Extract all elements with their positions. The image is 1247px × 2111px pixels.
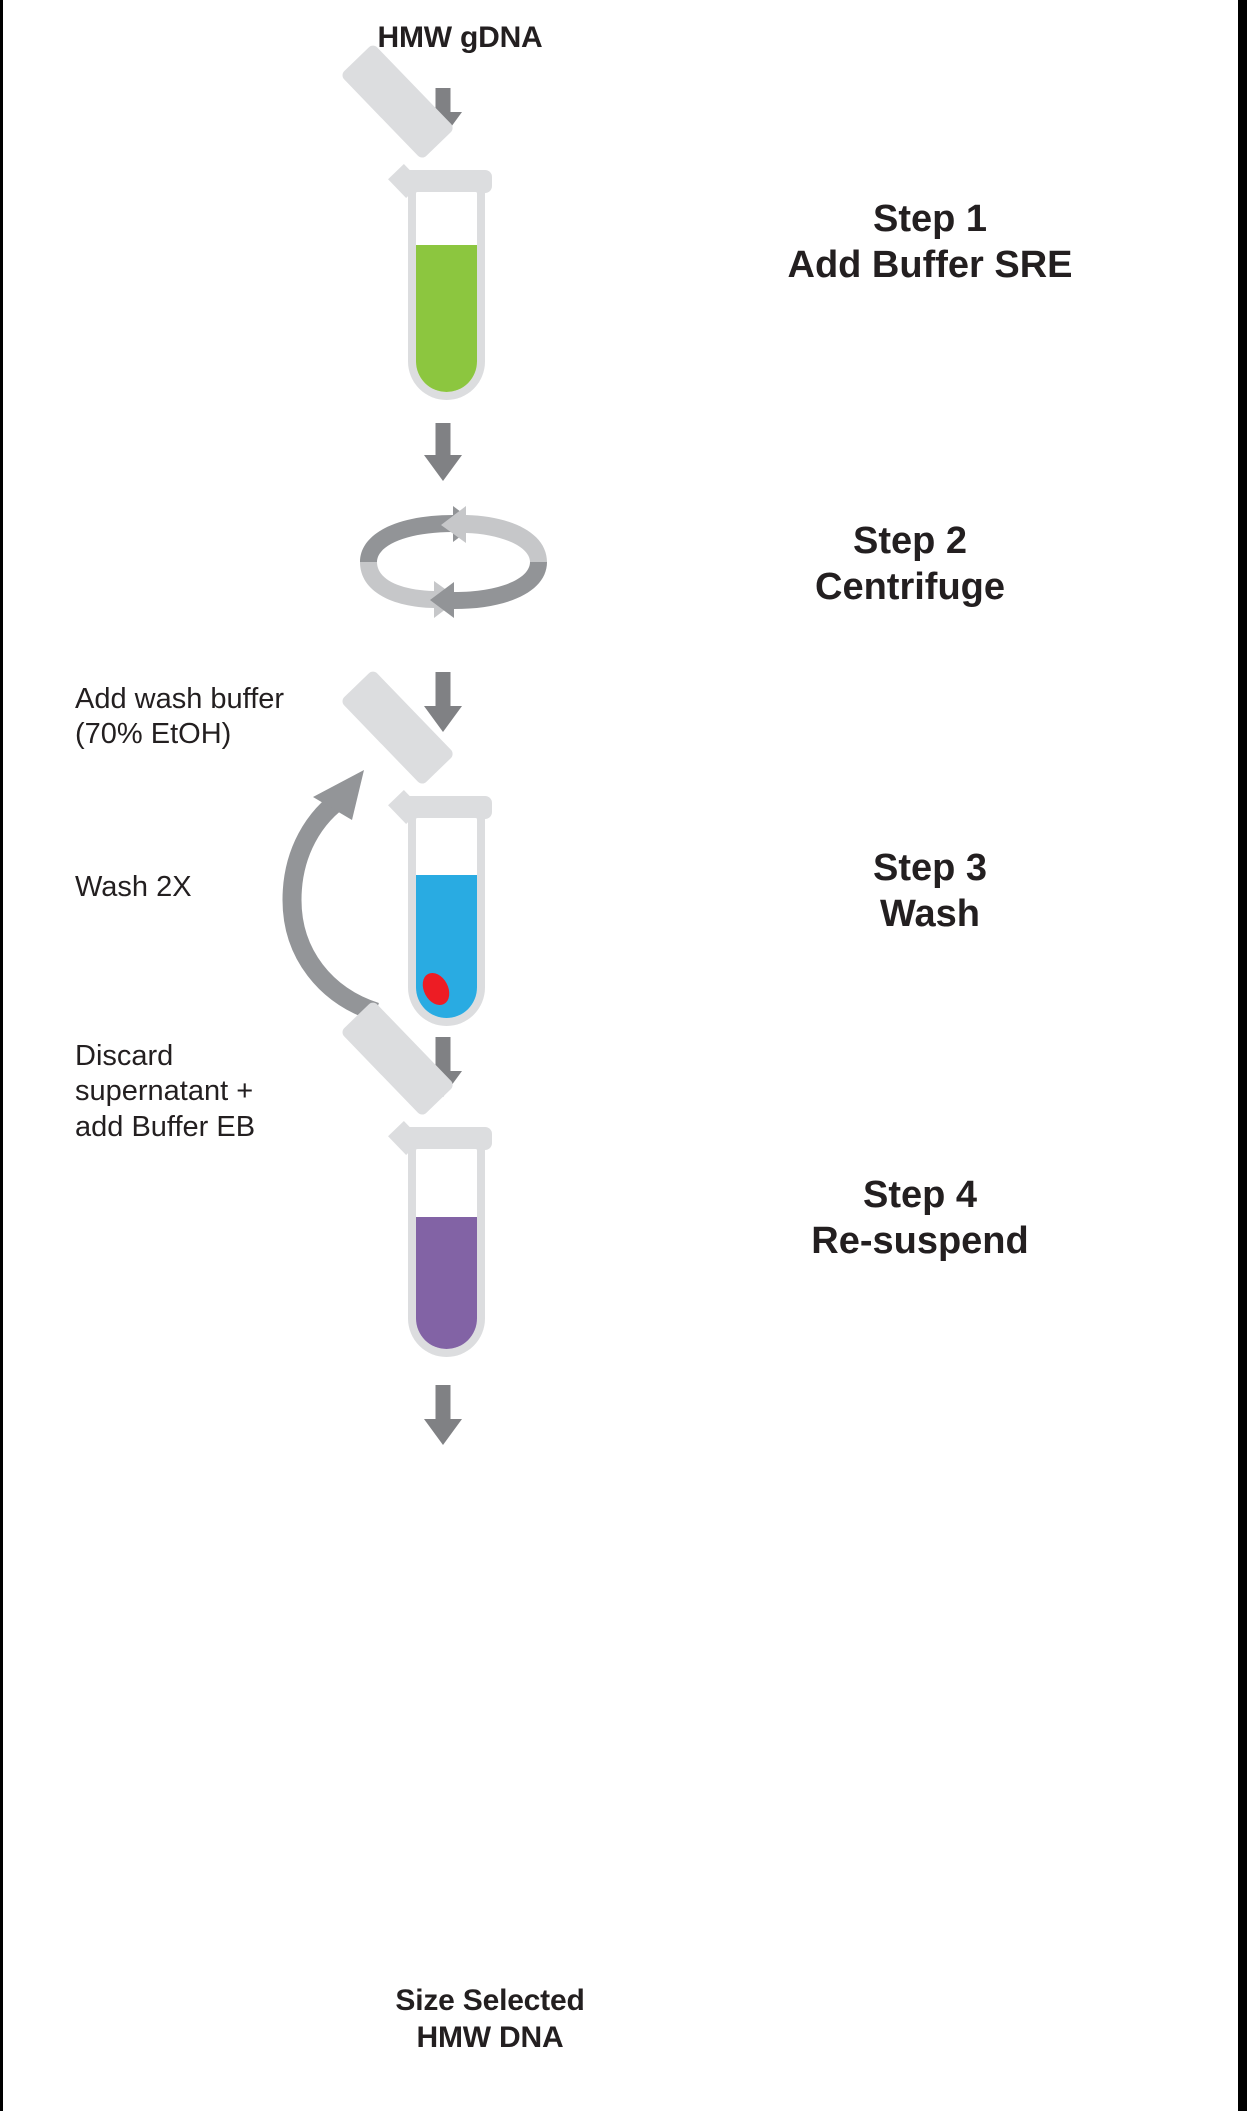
tube-body-step-3	[408, 814, 485, 1026]
figure-canvas: HMW gDNA Step 1 Add Buffer SRE	[0, 0, 1247, 2111]
arrow-step-4-to-output	[423, 1385, 463, 1447]
right-edge-band	[1238, 0, 1247, 2111]
input-material-label: HMW gDNA	[310, 20, 610, 57]
tube-fluid-step-1	[416, 245, 477, 392]
tube-body-step-1	[408, 188, 485, 400]
left-edge-band	[0, 0, 3, 2111]
step-2-caption: Step 2 Centrifuge	[680, 518, 1140, 611]
microtube-step-3	[308, 716, 508, 1036]
step-4-caption: Step 4 Re-suspend	[660, 1172, 1180, 1265]
microtube-step-1	[308, 90, 508, 400]
tube-fluid-step-4	[416, 1217, 477, 1349]
step-3-caption: Step 3 Wash	[680, 845, 1180, 938]
circular-arrows-icon	[346, 505, 561, 620]
tube-body-step-4	[408, 1145, 485, 1357]
microtube-step-4	[308, 1047, 508, 1367]
tube-lid-step-1	[340, 43, 455, 160]
output-material-label: Size Selected HMW DNA	[340, 1983, 640, 2056]
arrow-step-1-to-2	[423, 423, 463, 483]
step-1-caption: Step 1 Add Buffer SRE	[680, 196, 1180, 289]
centrifuge-icon	[346, 505, 561, 620]
